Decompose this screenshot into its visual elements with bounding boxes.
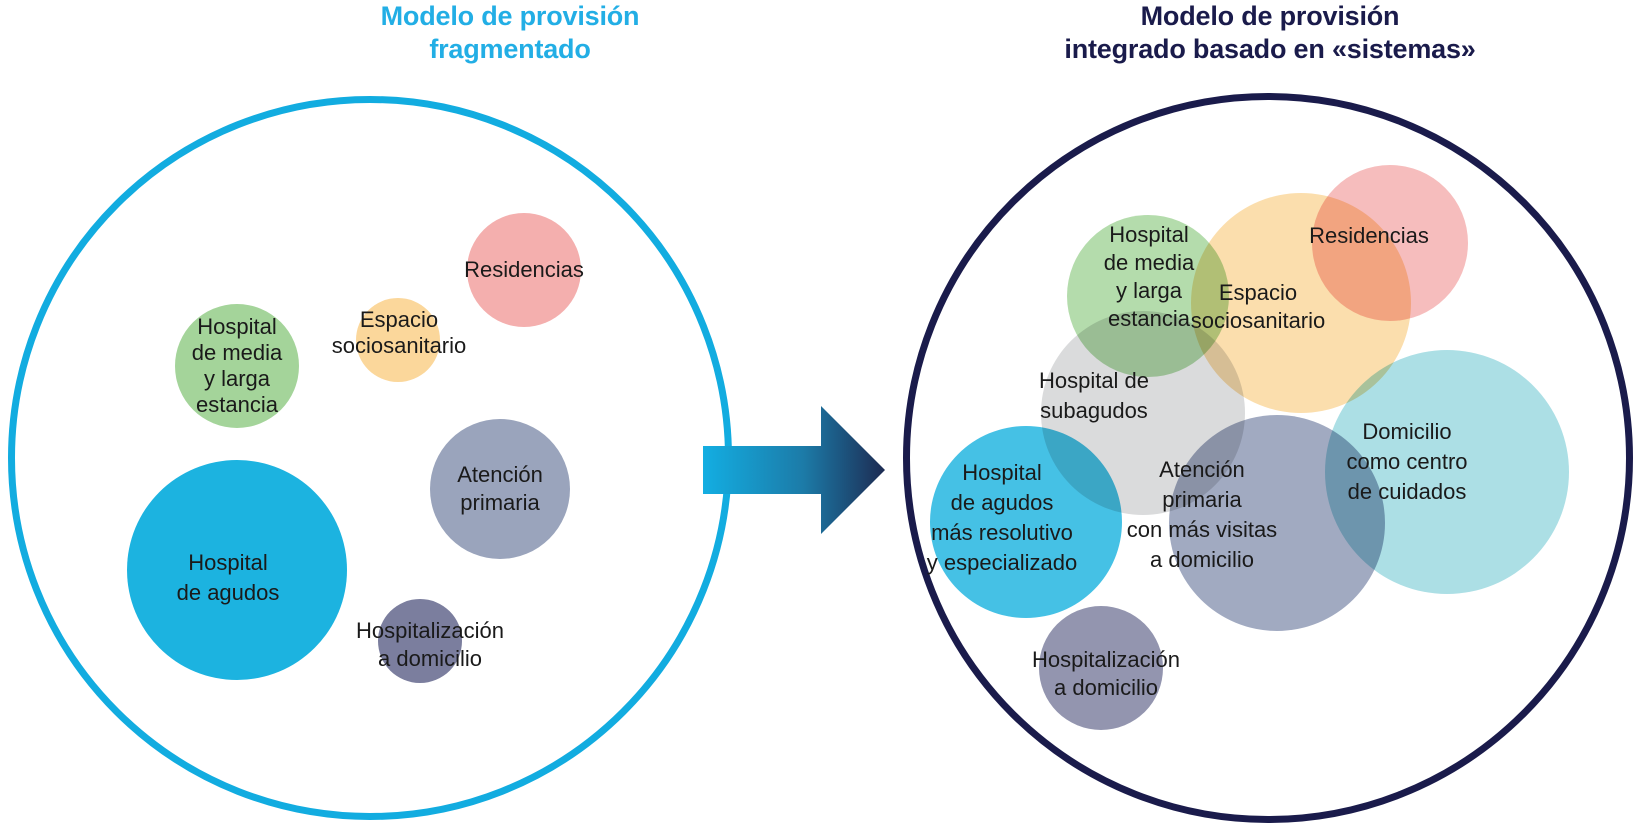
bubble-espacio-sociosanitario[interactable] bbox=[356, 298, 440, 382]
diagram-canvas: Modelo de provisión fragmentado Modelo d… bbox=[0, 0, 1642, 835]
right-panel-title: Modelo de provisión integrado basado en … bbox=[900, 0, 1640, 66]
bubble-residencias[interactable] bbox=[1312, 165, 1468, 321]
bubble-atencion-primaria[interactable] bbox=[430, 419, 570, 559]
bubble-atencion-primaria-con-mas-visitas[interactable] bbox=[1169, 415, 1385, 631]
left-panel-title: Modelo de provisión fragmentado bbox=[200, 0, 820, 66]
transformation-arrow bbox=[703, 406, 885, 534]
bubble-hospital-media-larga-estancia[interactable] bbox=[175, 304, 299, 428]
bubble-hospitalizacion-a-domicilio[interactable] bbox=[1039, 606, 1163, 730]
bubble-hospitalizacion-a-domicilio[interactable] bbox=[378, 599, 462, 683]
bubble-hospital-de-agudos[interactable] bbox=[127, 460, 347, 680]
fragmented-model-ring bbox=[8, 96, 732, 820]
bubble-residencias[interactable] bbox=[467, 213, 581, 327]
bubble-hospital-de-agudos-mas-resolutivo[interactable] bbox=[930, 426, 1122, 618]
